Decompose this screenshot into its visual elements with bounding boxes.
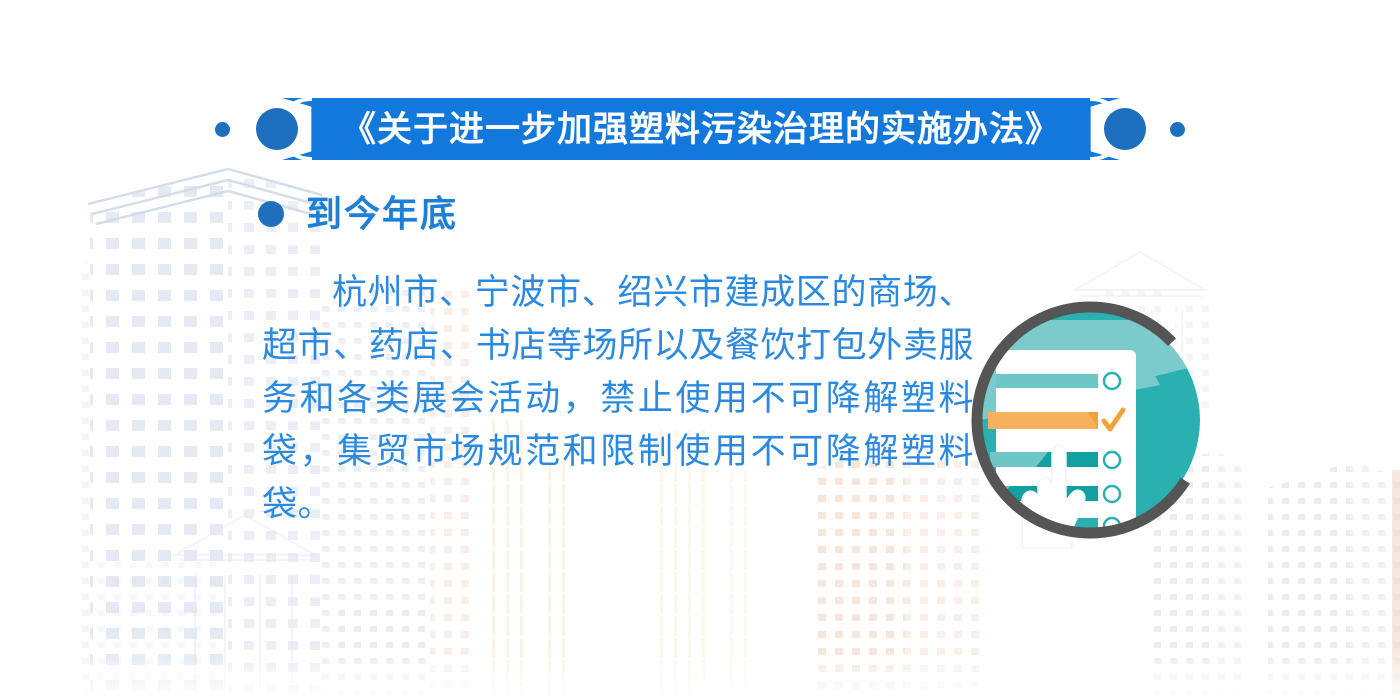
decorative-dot-right-small: [1170, 122, 1185, 137]
checklist-circle-illustration: [960, 290, 1220, 550]
checklist-row-bar-2: [988, 412, 1098, 429]
title-banner: 《关于进一步加强塑料污染治理的实施办法》: [282, 98, 1120, 160]
body-paragraph: 杭州市、宁波市、绍兴市建成区的商场、超市、药店、书店等场所以及餐饮打包外卖服务和…: [262, 266, 974, 531]
bullet-dot-icon: [258, 201, 284, 227]
decorative-dot-left-large: [256, 108, 298, 150]
subheading-text: 到今年底: [306, 196, 458, 232]
checklist-row-bar-1: [996, 374, 1098, 388]
title-banner-row: 《关于进一步加强塑料污染治理的实施办法》: [0, 96, 1400, 162]
decorative-dot-right-large: [1104, 108, 1146, 150]
decorative-dot-left-small: [215, 122, 230, 137]
page-title: 《关于进一步加强塑料污染治理的实施办法》: [341, 112, 1061, 147]
subheading-row: 到今年底: [258, 196, 458, 232]
